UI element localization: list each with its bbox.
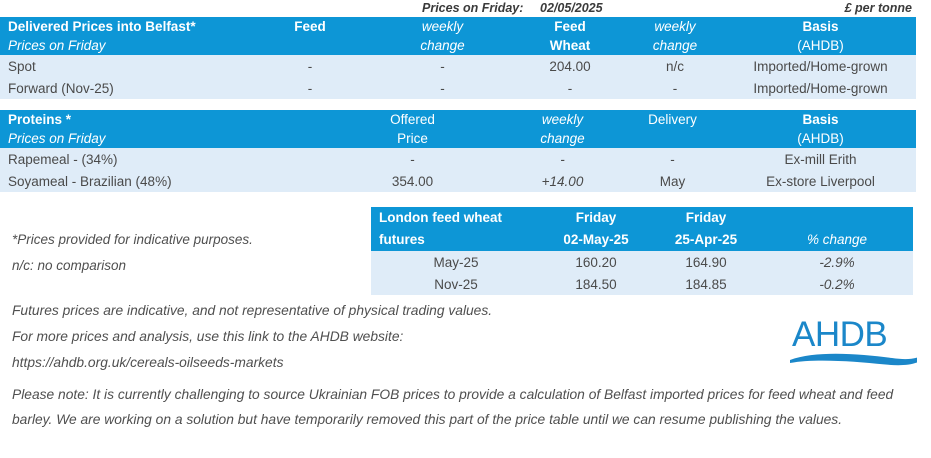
delivered-prices-table: Delivered Prices into Belfast* Feed week… — [0, 17, 916, 99]
proteins-header-row-2: Prices on Friday Price change (AHDB) — [0, 129, 916, 148]
table-row: Forward (Nov-25) - - - - Imported/Home-g… — [0, 77, 916, 99]
table-row: May-25 160.20 164.90 -2.9% — [371, 251, 913, 273]
cell-delivery: - — [620, 148, 725, 170]
proteins-subtitle: Prices on Friday — [0, 129, 320, 148]
row-label: Forward (Nov-25) — [0, 77, 250, 99]
proteins-body: Rapemeal - (34%) - - - Ex-mill Erith Soy… — [0, 148, 916, 192]
delivered-col-basis-1: Basis — [725, 17, 916, 36]
delivered-col-feed-change-2: change — [370, 36, 515, 55]
row-label: Spot — [0, 55, 250, 77]
table-row: Rapemeal - (34%) - - - Ex-mill Erith — [0, 148, 916, 170]
table-row: Soyameal - Brazilian (48%) 354.00 +14.00… — [0, 170, 916, 192]
footer-futures-disclaimer: Futures prices are indicative, and not r… — [12, 303, 492, 318]
cell-feed: - — [250, 77, 370, 99]
cell-previous: 184.85 — [651, 273, 761, 295]
caption-unit: £ per tonne — [845, 1, 912, 15]
caption-date: 02/05/2025 — [540, 1, 603, 15]
row-label: Rapemeal - (34%) — [0, 148, 320, 170]
cell-pct-change: -0.2% — [761, 273, 913, 295]
cell-wheat-change: - — [625, 77, 725, 99]
futures-col-current-date: 02-May-25 — [541, 229, 651, 251]
table-row: Nov-25 184.50 184.85 -0.2% — [371, 273, 913, 295]
futures-table: London feed wheat Friday Friday futures … — [371, 207, 913, 295]
cell-pct-change: -2.9% — [761, 251, 913, 273]
proteins-col-change-2: change — [505, 129, 620, 148]
cell-feed-change: - — [370, 77, 515, 99]
cell-current: 160.20 — [541, 251, 651, 273]
report-caption-strip: Prices on Friday: 02/05/2025 £ per tonne — [0, 0, 916, 17]
caption-label: Prices on Friday: — [422, 1, 523, 15]
futures-col-previous-1: Friday — [651, 207, 761, 229]
delivered-col-feed-change-1: weekly — [370, 17, 515, 36]
row-label: Soyameal - Brazilian (48%) — [0, 170, 320, 192]
delivered-col-wheat-change-1: weekly — [625, 17, 725, 36]
delivered-col-wheat-2: Wheat — [515, 36, 625, 55]
table-row: Spot - - 204.00 n/c Imported/Home-grown — [0, 55, 916, 77]
cell-current: 184.50 — [541, 273, 651, 295]
proteins-col-change-1: weekly — [505, 110, 620, 129]
cell-price: - — [320, 148, 505, 170]
delivered-col-basis-2: (AHDB) — [725, 36, 916, 55]
footer-please-note: Please note: It is currently challenging… — [12, 382, 917, 432]
cell-delivery: May — [620, 170, 725, 192]
delivered-subtitle: Prices on Friday — [0, 36, 250, 55]
delivered-prices-body: Spot - - 204.00 n/c Imported/Home-grown … — [0, 55, 916, 99]
cell-previous: 164.90 — [651, 251, 761, 273]
note-no-comparison: n/c: no comparison — [12, 258, 126, 273]
futures-col-pct-1 — [761, 207, 913, 229]
futures-body: May-25 160.20 164.90 -2.9% Nov-25 184.50… — [371, 251, 913, 295]
delivered-prices-header: Delivered Prices into Belfast* Feed week… — [0, 17, 916, 55]
futures-header: London feed wheat Friday Friday futures … — [371, 207, 913, 251]
proteins-col-basis-1: Basis — [725, 110, 916, 129]
note-indicative-prices: *Prices provided for indicative purposes… — [12, 232, 253, 247]
cell-change: +14.00 — [505, 170, 620, 192]
row-label: Nov-25 — [371, 273, 541, 295]
cell-basis: Imported/Home-grown — [725, 55, 916, 77]
cell-basis: Ex-mill Erith — [725, 148, 916, 170]
ahdb-logo-text: AHDB — [792, 315, 887, 354]
cell-wheat-change: n/c — [625, 55, 725, 77]
cell-wheat: - — [515, 77, 625, 99]
futures-subtitle: futures — [371, 229, 541, 251]
cell-basis: Imported/Home-grown — [725, 77, 916, 99]
delivered-col-wheat-1: Feed — [515, 17, 625, 36]
ahdb-logo: AHDB — [788, 312, 920, 368]
delivered-title: Delivered Prices into Belfast* — [0, 17, 250, 36]
proteins-col-price-2: Price — [320, 129, 505, 148]
cell-basis: Ex-store Liverpool — [725, 170, 916, 192]
cell-change: - — [505, 148, 620, 170]
proteins-table: Proteins * Offered weekly Delivery Basis… — [0, 110, 916, 192]
futures-col-current-1: Friday — [541, 207, 651, 229]
ahdb-website-link[interactable]: https://ahdb.org.uk/cereals-oilseeds-mar… — [12, 355, 283, 370]
cell-feed-change: - — [370, 55, 515, 77]
row-label: May-25 — [371, 251, 541, 273]
delivered-header-row-1: Delivered Prices into Belfast* Feed week… — [0, 17, 916, 36]
ahdb-logo-wave — [790, 354, 917, 365]
cell-wheat: 204.00 — [515, 55, 625, 77]
futures-col-pct-change: % change — [761, 229, 913, 251]
proteins-header: Proteins * Offered weekly Delivery Basis… — [0, 110, 916, 148]
footer-more-prices: For more prices and analysis, use this l… — [12, 329, 403, 344]
proteins-col-delivery: Delivery — [620, 110, 725, 129]
delivered-col-wheat-change-2: change — [625, 36, 725, 55]
futures-col-previous-date: 25-Apr-25 — [651, 229, 761, 251]
futures-title: London feed wheat — [371, 207, 541, 229]
proteins-col-delivery-2 — [620, 129, 725, 148]
futures-header-row-2: futures 02-May-25 25-Apr-25 % change — [371, 229, 913, 251]
delivered-col-feed: Feed — [250, 17, 370, 36]
proteins-col-price-1: Offered — [320, 110, 505, 129]
delivered-col-feed-2 — [250, 36, 370, 55]
futures-header-row-1: London feed wheat Friday Friday — [371, 207, 913, 229]
proteins-title: Proteins * — [0, 110, 320, 129]
cell-price: 354.00 — [320, 170, 505, 192]
cell-feed: - — [250, 55, 370, 77]
proteins-col-basis-2: (AHDB) — [725, 129, 916, 148]
price-report-page: Prices on Friday: 02/05/2025 £ per tonne… — [0, 0, 931, 458]
delivered-header-row-2: Prices on Friday change Wheat change (AH… — [0, 36, 916, 55]
proteins-header-row-1: Proteins * Offered weekly Delivery Basis — [0, 110, 916, 129]
